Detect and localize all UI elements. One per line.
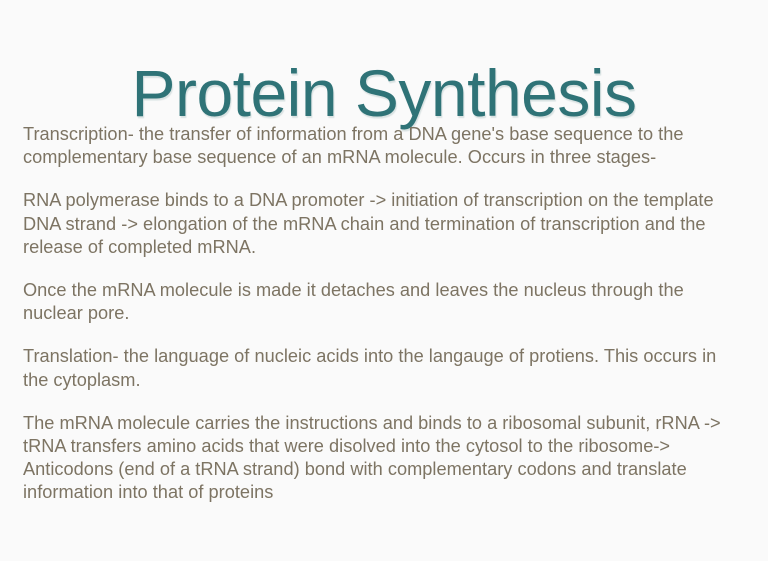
page-title: Protein Synthesis <box>0 58 768 129</box>
body-paragraph-transcription: Transcription- the transfer of informati… <box>23 123 735 169</box>
body-paragraph-nuclear-pore: Once the mRNA molecule is made it detach… <box>23 279 735 325</box>
body-paragraph-ribosome: The mRNA molecule carries the instructio… <box>23 412 735 505</box>
body-paragraph-translation: Translation- the language of nucleic aci… <box>23 345 735 391</box>
slide-body: Transcription- the transfer of informati… <box>23 123 735 505</box>
slide: Protein Synthesis Transcription- the tra… <box>0 0 768 561</box>
body-paragraph-rna-polymerase: RNA polymerase binds to a DNA promoter -… <box>23 189 735 259</box>
